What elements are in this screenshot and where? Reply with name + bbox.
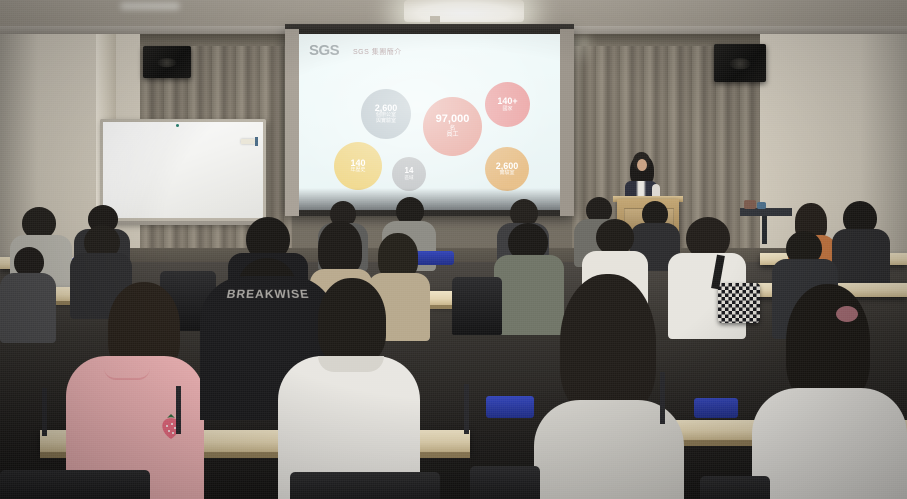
whiteboard-eraser [241,139,255,144]
chair-leg [464,384,469,434]
speaker-right [714,44,766,82]
screen-border-right [560,29,574,216]
audience-hair [786,284,870,404]
ceiling-light-panel [404,0,524,22]
slide-glare [299,34,560,210]
photo-scene: SGS SGS 集團簡介 2,600 個辦公室 與實驗室 97,000 名 員工… [0,0,907,499]
ceiling-light-secondary [120,2,180,10]
hair-tie [836,306,858,322]
audience-hair [318,278,386,364]
chair [470,466,540,499]
speaker-cone-icon [157,58,176,68]
chair [290,472,440,499]
speaker-cone-icon [730,58,751,69]
presenter-face [637,159,647,171]
screen-border-left [285,29,299,216]
seat-cushion [694,398,738,418]
audience-hair [318,221,362,275]
seat-cushion [486,396,534,418]
audience-head [596,219,634,255]
chair-leg [660,372,665,424]
audience-hair [560,274,656,416]
chair [700,476,770,499]
chair [0,470,150,499]
hoodie-drawstring [104,368,150,380]
whiteboard-magnet-icon [176,124,179,127]
chair-leg [176,386,181,434]
audience-row-front: BREAKWISE [0,300,907,499]
whiteboard-marker-pen [255,137,258,146]
sweatshirt-text: BREAKWISE [202,283,333,306]
speaker-left [143,46,191,78]
audience-torso [752,388,907,499]
hoodie-collar [318,356,384,372]
seat-cushion [412,251,454,265]
chair-leg [42,388,47,436]
